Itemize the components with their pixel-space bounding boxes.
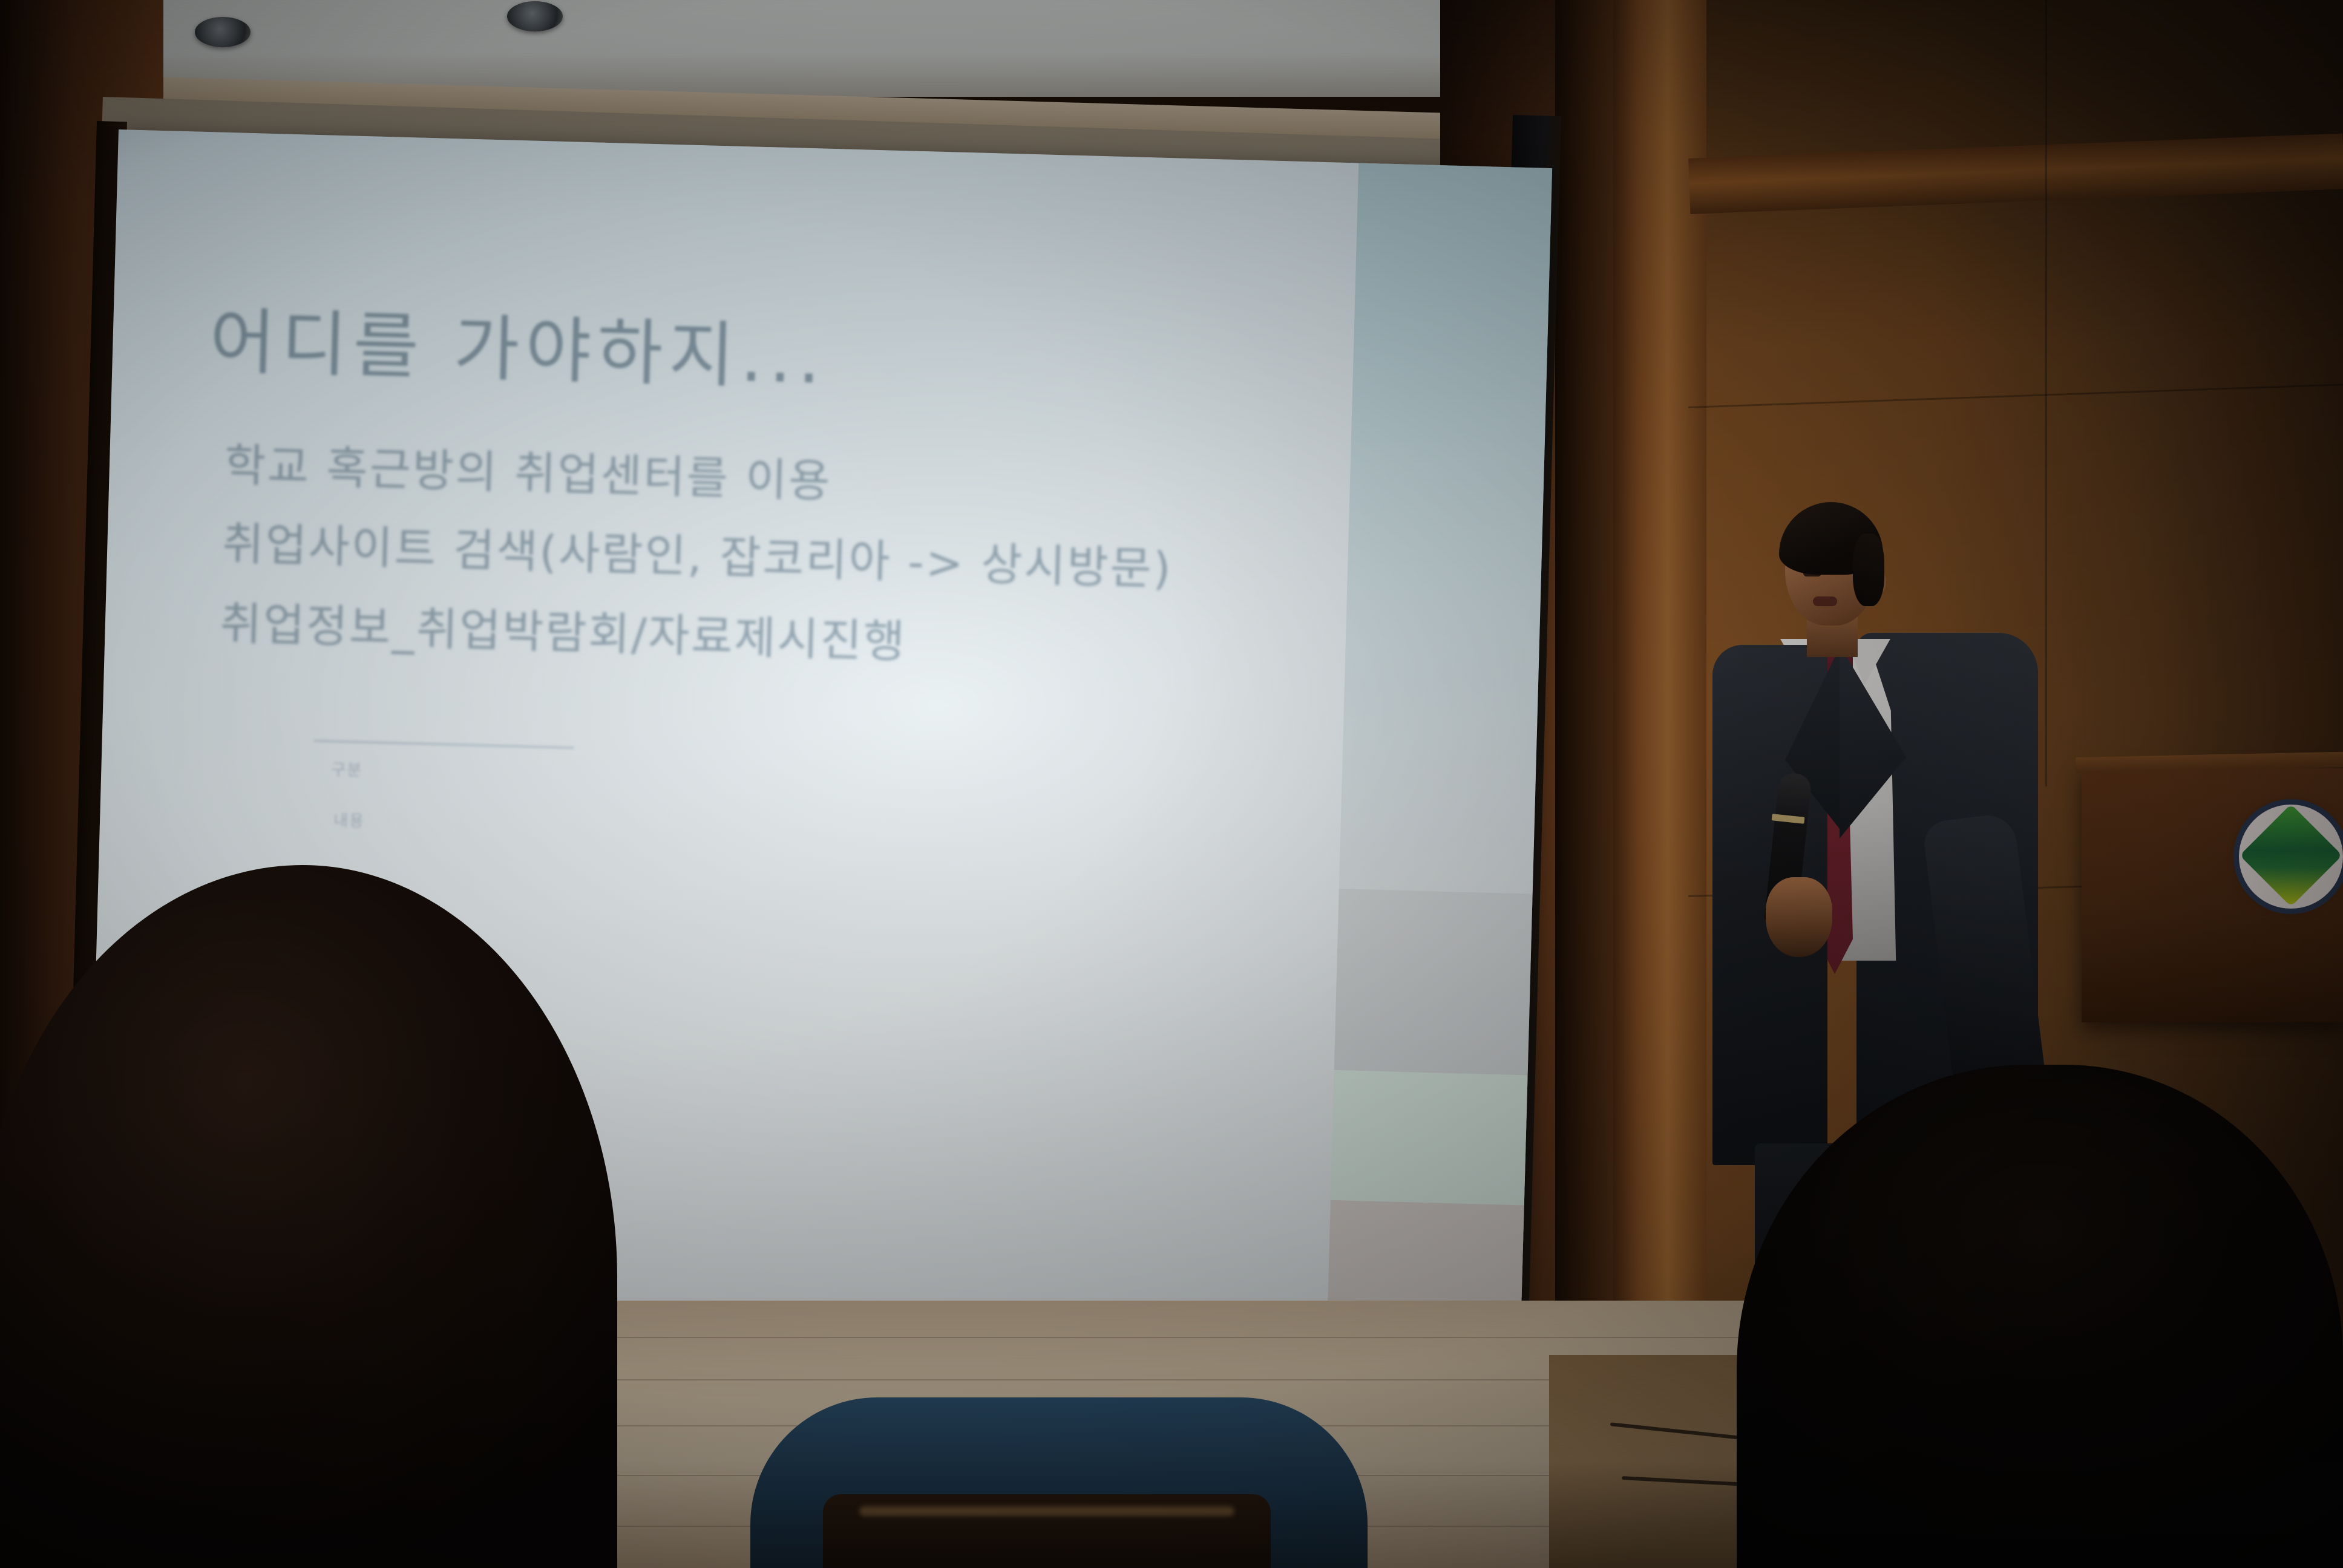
slide-band-mint	[1331, 1070, 1528, 1206]
slide-faint-note-1: 구분	[331, 757, 363, 780]
wall-pillar	[1555, 0, 1613, 1367]
institution-emblem-icon	[2239, 805, 2343, 909]
photo-scene: 어디를 가야하지... 학교 혹근방의 취업센터를 이용 취업사이트 검색(사람…	[0, 0, 2343, 1568]
presenter-hand-holding-mic	[1766, 877, 1832, 957]
presenter-hair-side	[1853, 534, 1884, 606]
emblem-diamond-shape	[2240, 805, 2342, 907]
slide-band-gray	[1334, 889, 1533, 1076]
slide-faint-note-2: 내용	[333, 808, 365, 831]
ceiling-downlight-icon	[507, 1, 563, 31]
auditorium-seat-highlight	[859, 1506, 1234, 1516]
slide-title: 어디를 가야하지...	[209, 283, 828, 403]
slide-band-teal	[1339, 163, 1552, 893]
presenter-mouth	[1813, 596, 1837, 606]
ceiling-downlight-icon	[195, 17, 251, 47]
auditorium-seat-inner	[823, 1494, 1271, 1568]
